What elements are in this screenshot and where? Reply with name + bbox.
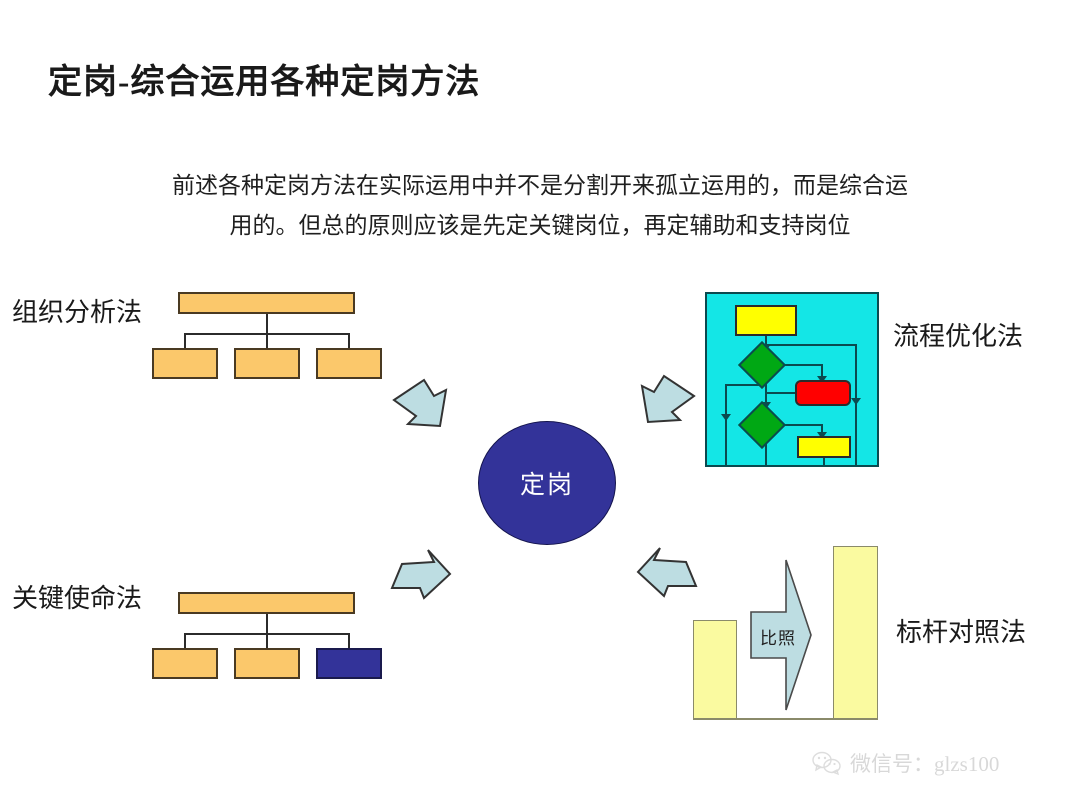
flow-connector-end-down <box>823 458 825 465</box>
mission-connector-drop-2 <box>266 633 268 649</box>
org-node-root <box>178 292 355 314</box>
mission-node-child-2 <box>234 648 300 679</box>
org-connector-drop-2 <box>266 333 268 349</box>
benchmark-bar-chart: 比照 <box>688 540 888 725</box>
arrow-top-right-to-center-icon <box>634 374 700 436</box>
method-label-key-mission: 关键使命法 <box>12 578 142 615</box>
center-node: 定岗 <box>478 421 616 545</box>
arrow-bottom-left-to-center-icon <box>388 548 454 610</box>
mission-connector-drop-1 <box>184 633 186 649</box>
mission-node-child-3-highlighted <box>316 648 382 679</box>
org-node-child-3 <box>316 348 382 379</box>
flow-node-action <box>795 380 851 406</box>
org-node-child-1 <box>152 348 218 379</box>
org-chart-diagram <box>140 288 390 388</box>
org-connector-drop-3 <box>348 333 350 349</box>
arrow-top-left-to-center-icon <box>388 378 454 440</box>
flow-arrowhead-loop-right <box>851 398 861 405</box>
page-title: 定岗-综合运用各种定岗方法 <box>48 54 480 103</box>
method-label-benchmarking: 标杆对照法 <box>896 612 1026 649</box>
org-node-child-2 <box>234 348 300 379</box>
bar-benchmark-target <box>833 546 878 719</box>
slide-canvas: 定岗-综合运用各种定岗方法 前述各种定岗方法在实际运用中并不是分割开来孤立运用的… <box>0 0 1080 810</box>
wechat-icon <box>812 751 842 775</box>
flow-arrowhead-loop-left <box>721 414 731 421</box>
flow-node-start <box>735 305 797 336</box>
flow-node-end <box>797 436 851 458</box>
center-node-label: 定岗 <box>520 465 574 501</box>
org-connector-stem <box>266 314 268 334</box>
arrow-bottom-right-to-center-icon <box>634 546 700 608</box>
flow-node-decision-1 <box>738 341 786 389</box>
compare-arrow-label: 比照 <box>760 624 796 649</box>
mission-connector-stem <box>266 614 268 634</box>
flow-connector-loop-left <box>725 384 727 465</box>
intro-line-2: 用的。但总的原则应该是先定关键岗位，再定辅助和支持岗位 <box>100 206 980 246</box>
key-mission-diagram <box>140 588 390 688</box>
flow-node-decision-2 <box>738 401 786 449</box>
watermark-text: 微信号：glzs100 <box>850 748 999 778</box>
method-label-process-optimization: 流程优化法 <box>893 316 1023 353</box>
intro-line-1: 前述各种定岗方法在实际运用中并不是分割开来孤立运用的，而是综合运 <box>100 166 980 206</box>
process-flowchart-diagram <box>705 292 879 467</box>
flow-connector-action-return <box>765 392 799 394</box>
flow-connector-loop-top <box>765 344 857 346</box>
mission-node-root <box>178 592 355 614</box>
mission-node-child-1 <box>152 648 218 679</box>
bar-current-state <box>693 620 737 719</box>
mission-connector-drop-3 <box>348 633 350 649</box>
org-connector-drop-1 <box>184 333 186 349</box>
intro-paragraph: 前述各种定岗方法在实际运用中并不是分割开来孤立运用的，而是综合运 用的。但总的原… <box>100 166 980 246</box>
method-label-organizational-analysis: 组织分析法 <box>12 292 142 329</box>
watermark: 微信号：glzs100 <box>812 748 999 778</box>
